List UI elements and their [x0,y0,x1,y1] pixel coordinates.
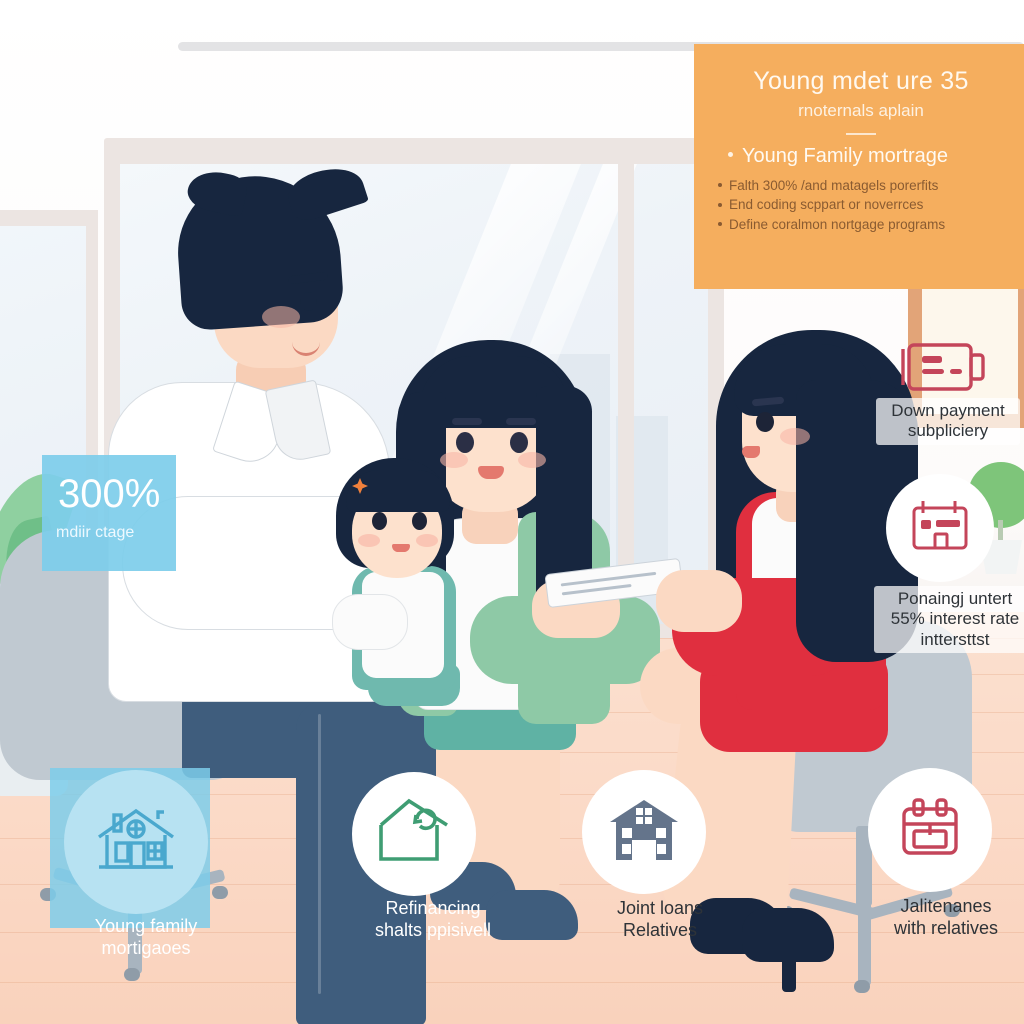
father-eye [300,292,317,311]
badge-caption-line1: Jalitenanes [856,896,1024,918]
bullet-dot-icon [718,203,722,207]
illustration-canvas: Young mdet ure 35 rnoternals aplain Youn… [0,0,1024,1024]
badge-circle [886,474,994,582]
stat-badge-value: 300% [58,472,160,517]
child-eye [372,512,387,530]
bullet-dot-icon [718,183,722,187]
badge-caption-line2: shalts ppisivell [338,920,528,942]
badge-caption: Young family mortigaoes [56,916,236,959]
building-calendar-icon [909,498,971,559]
mother-blush [518,452,546,468]
window-mullion-top [120,154,708,164]
house-refresh-icon [375,797,453,872]
father-blush [262,306,300,328]
badge-caption-line1: Young family [56,916,236,938]
office-chair-caster [212,886,228,899]
consultant-blush [780,428,810,445]
child-mouth [392,544,410,552]
badge-caption: Jalitenanes with relatives [856,896,1024,939]
info-panel-lead-text: Young Family mortrage [742,145,948,167]
badge-caption: Joint loans Relatives [570,898,750,941]
consultant-hand [656,570,742,632]
office-chair-caster [854,980,870,993]
info-panel-lead-bullet: Young Family mortrage [728,145,1004,168]
consultant-shoe [742,908,834,962]
badge-circle [582,770,706,894]
consultant-lips [742,446,760,458]
mother-eyebrow [452,418,482,425]
badge-caption: Down payment subpliciery [876,398,1020,445]
bullet-text: Define coralmon nortgage programs [729,217,945,232]
two-story-house-icon [608,798,680,867]
info-panel-title: Young mdet ure 35 [718,66,1004,97]
bullet-text: Falth 300% /and matagels porerfits [729,178,938,193]
badge-caption-line1: Refinancing [338,898,528,920]
badge-circle [868,768,992,892]
badge-circle [352,772,476,896]
calendar-icon [898,797,962,864]
badge-caption-line1: Joint loans [570,898,750,920]
badge-caption-line2: Relatives [570,920,750,942]
badge-caption: Ponaingj untert 55% interest rate intter… [874,586,1024,653]
info-panel: Young mdet ure 35 rnoternals aplain Youn… [694,44,1024,289]
mother-eye [456,432,474,453]
badge-caption-line2: mortigaoes [56,938,236,960]
badge-caption-line2: with relatives [856,918,1024,940]
consultant-eye [756,412,774,432]
info-panel-bullet: Falth 300% /and matagels porerfits [718,176,1004,196]
child-blush [358,534,380,547]
mother-blush [440,452,468,468]
info-panel-subtitle: rnoternals aplain [718,101,1004,121]
bullet-text: End coding scppart or noverrces [729,197,923,212]
child-blush [416,534,438,547]
office-chair-caster [124,968,140,981]
info-panel-bullet-list: Falth 300% /and matagels porerfits End c… [718,176,1004,235]
child-eye [412,512,427,530]
child-fringe [346,470,450,512]
badge-circle [64,770,208,914]
info-panel-divider [846,133,876,135]
info-panel-bullet: Define coralmon nortgage programs [718,215,1004,235]
mother-eyebrow [506,418,536,425]
window-mullion [618,154,634,624]
bullet-dot-icon [728,152,733,157]
child-arm [332,594,408,650]
info-panel-bullet: End coding scppart or noverrces [718,195,1004,215]
house-icon [94,805,178,880]
document-card-icon [900,336,988,403]
bullet-dot-icon [718,222,722,226]
stat-badge-caption: mdiir ctage [56,524,134,542]
mother-eye [510,432,528,453]
badge-caption: Refinancing shalts ppisivell [338,898,528,941]
